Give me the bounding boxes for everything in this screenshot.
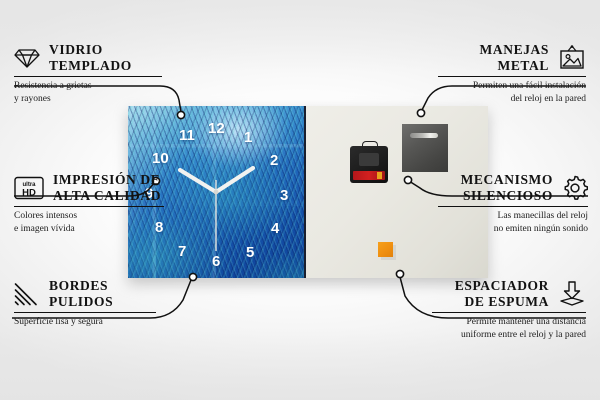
callout-head: ultra HD IMPRESIÓN DE ALTA CALIDAD [14,172,164,203]
callout-rule [438,76,586,77]
callout-bordes-pulidos: BORDES PULIDOS Superficie lisa y segura [14,278,156,329]
callout-rule [432,312,586,313]
connector-dot-espaciador [396,270,403,277]
callout-vidrio-templado: VIDRIO TEMPLADO Resistencia a grietas y … [14,42,162,105]
callout-head: MECANISMO SILENCIOSO [438,172,588,203]
gear-icon [562,175,588,201]
callout-subtitle: Permiten una fácil instalación del reloj… [438,80,586,105]
callout-title: IMPRESIÓN DE ALTA CALIDAD [53,172,161,203]
callout-rule [14,76,162,77]
callout-subtitle: Permite mantener una distancia uniforme … [432,316,586,341]
infographic-canvas: 12 1 2 3 4 5 6 7 8 9 10 11 [0,0,600,400]
callout-subtitle: Resistencia a grietas y rayones [14,80,162,105]
callout-rule [14,206,164,207]
callout-title: ESPACIADOR DE ESPUMA [432,278,549,309]
callout-subtitle: Colores intensos e imagen vívida [14,210,164,235]
callout-impresion-alta-calidad: ultra HD IMPRESIÓN DE ALTA CALIDAD Color… [14,172,164,235]
callout-subtitle: Las manecillas del reloj no emiten ningú… [438,210,588,235]
callout-manejas-metal: MANEJAS METAL Permiten una fácil instala… [438,42,586,105]
callout-subtitle: Superficie lisa y segura [14,316,156,328]
callout-mecanismo-silencioso: MECANISMO SILENCIOSO Las manecillas del … [438,172,588,235]
arrow-onto-pad-icon [558,281,586,307]
callout-title: BORDES PULIDOS [49,278,113,309]
picture-frame-icon [558,45,586,70]
connector-dot-vidrio-templado [177,111,184,118]
ultra-hd-badge-bottom: HD [22,187,36,198]
diagonal-stripes-icon [14,282,40,306]
callout-title: VIDRIO TEMPLADO [49,42,132,73]
connector-dot-bordes [189,273,196,280]
callout-head: BORDES PULIDOS [14,278,156,309]
callout-rule [438,206,588,207]
callout-rule [14,312,156,313]
ultra-hd-badge-icon: ultra HD [14,176,44,200]
callout-head: VIDRIO TEMPLADO [14,42,162,73]
callout-espaciador-espuma: ESPACIADOR DE ESPUMA Permite mantener un… [432,278,586,341]
callout-head: MANEJAS METAL [438,42,586,73]
callout-head: ESPACIADOR DE ESPUMA [432,278,586,309]
connector-dot-mecanismo [404,176,411,183]
callout-title: MECANISMO SILENCIOSO [438,172,553,203]
callout-title: MANEJAS METAL [438,42,549,73]
diamond-icon [14,47,40,69]
connector-dot-manejas [417,109,424,116]
